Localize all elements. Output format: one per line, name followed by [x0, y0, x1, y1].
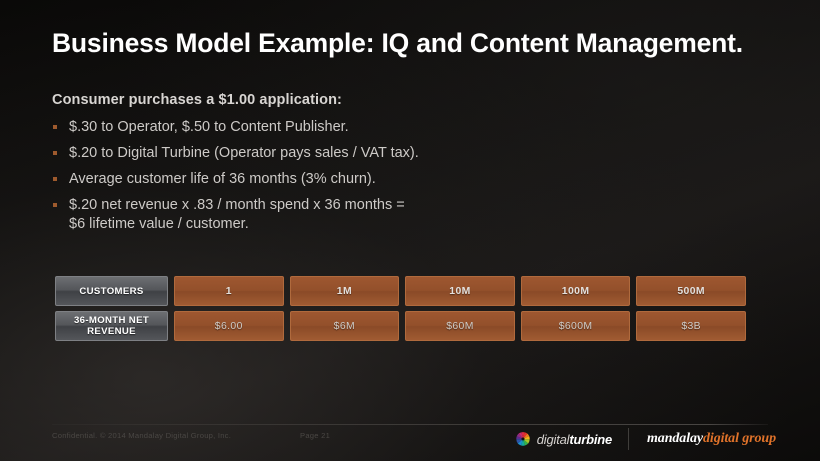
- md-word-digital-group: digital group: [703, 431, 776, 446]
- table-row: 36-MONTH NET REVENUE $6.00 $6M $60M $600…: [55, 311, 746, 341]
- list-item-text-line2: $6 lifetime value / customer.: [69, 215, 572, 234]
- table-cell: 10M: [405, 276, 515, 306]
- table-cell: 500M: [636, 276, 746, 306]
- table-cell: $60M: [405, 311, 515, 341]
- list-item-text: $.30 to Operator, $.50 to Content Publis…: [69, 119, 349, 135]
- lead-statement: Consumer purchases a $1.00 application:: [52, 92, 342, 108]
- bullet-marker-icon: [53, 203, 57, 207]
- md-word-mandalay: mandalay: [647, 431, 703, 446]
- row-header-customers: CUSTOMERS: [55, 276, 168, 306]
- dt-word-light: digital: [537, 432, 570, 447]
- business-model-table: CUSTOMERS 1 1M 10M 100M 500M 36-MONTH NE…: [55, 276, 746, 346]
- table-cell: 1: [174, 276, 284, 306]
- list-item: Average customer life of 36 months (3% c…: [52, 170, 572, 189]
- table-cell: 100M: [521, 276, 631, 306]
- digital-turbine-wordmark: digitalturbine: [537, 432, 612, 447]
- row-header-net-revenue: 36-MONTH NET REVENUE: [55, 311, 168, 341]
- bullet-marker-icon: [53, 151, 57, 155]
- bullet-marker-icon: [53, 125, 57, 129]
- list-item-text: Average customer life of 36 months (3% c…: [69, 171, 376, 187]
- table-cell: 1M: [290, 276, 400, 306]
- dt-word-bold: turbine: [569, 432, 612, 447]
- list-item: $.20 net revenue x .83 / month spend x 3…: [52, 196, 572, 234]
- table-row: CUSTOMERS 1 1M 10M 100M 500M: [55, 276, 746, 306]
- pinwheel-icon: [514, 430, 532, 448]
- bullet-marker-icon: [53, 177, 57, 181]
- list-item-text: $.20 to Digital Turbine (Operator pays s…: [69, 145, 419, 161]
- mandalay-digital-group-logo: mandalaydigital group: [629, 431, 776, 447]
- page-title: Business Model Example: IQ and Content M…: [52, 28, 792, 59]
- list-item: $.30 to Operator, $.50 to Content Publis…: [52, 118, 572, 137]
- list-item: $.20 to Digital Turbine (Operator pays s…: [52, 144, 572, 163]
- confidential-notice: Confidential. © 2014 Mandalay Digital Gr…: [52, 431, 231, 440]
- digital-turbine-logo: digitalturbine: [514, 430, 628, 448]
- slide: Business Model Example: IQ and Content M…: [0, 0, 820, 461]
- footer-logos: digitalturbine mandalaydigital group: [514, 424, 776, 454]
- table-cell: $6M: [290, 311, 400, 341]
- table-cell: $6.00: [174, 311, 284, 341]
- list-item-text: $.20 net revenue x .83 / month spend x 3…: [69, 197, 405, 213]
- page-number: Page 21: [300, 431, 330, 440]
- table-cell: $3B: [636, 311, 746, 341]
- table-cell: $600M: [521, 311, 631, 341]
- bullet-list: $.30 to Operator, $.50 to Content Publis…: [52, 118, 572, 241]
